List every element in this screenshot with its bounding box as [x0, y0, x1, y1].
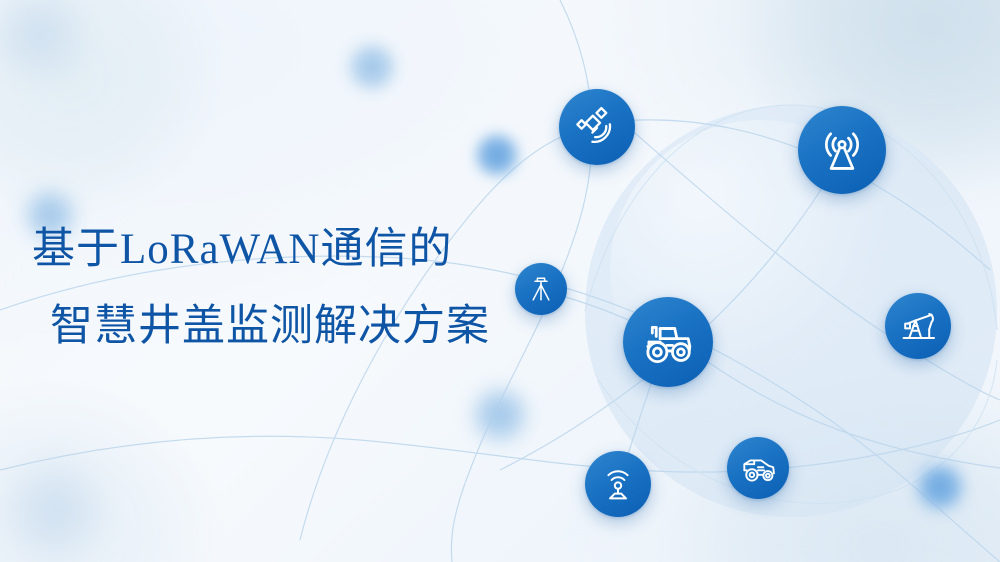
title-block: 基于LoRaWAN通信的 智慧井盖监测解决方案: [32, 228, 572, 348]
background-wash-top-left: [0, 0, 220, 220]
accent-dot: [0, 448, 117, 562]
title-line-1: 基于LoRaWAN通信的: [32, 228, 572, 271]
node-tractor[interactable]: [623, 297, 713, 387]
accent-dot: [473, 131, 521, 179]
oil-pumpjack-icon: [898, 306, 938, 346]
radio-tower-icon: [815, 123, 869, 177]
node-sensor[interactable]: [585, 451, 651, 517]
cover-slide: 基于LoRaWAN通信的 智慧井盖监测解决方案: [0, 0, 1000, 562]
node-harvester[interactable]: [727, 437, 789, 499]
title-line-2: 智慧井盖监测解决方案: [50, 305, 572, 348]
accent-dot: [0, 0, 95, 90]
accent-dot: [914, 461, 966, 513]
accent-dot: [470, 385, 530, 445]
accent-dot: [346, 41, 398, 93]
background-wash-bottom-left: [0, 382, 220, 562]
node-antenna[interactable]: [798, 106, 886, 194]
node-oil-pump[interactable]: [885, 293, 951, 359]
satellite-signal-icon: [574, 104, 620, 150]
tractor-icon: [640, 314, 696, 370]
wireless-sensor-icon: [598, 464, 638, 504]
node-satellite[interactable]: [559, 89, 635, 165]
background-wash-bottom-right: [670, 382, 1000, 562]
harvester-icon: [739, 449, 777, 487]
